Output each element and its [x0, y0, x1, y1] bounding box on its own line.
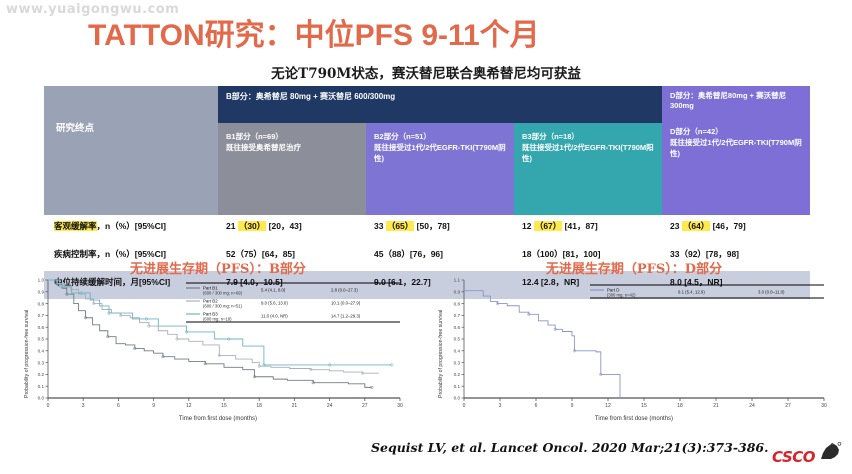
svg-text:0.6: 0.6	[454, 325, 461, 330]
chart-left-title: 无进展生存期（PFS）：B部分	[18, 258, 418, 277]
col-b1-desc: 既往接受奥希替尼治疗	[226, 143, 360, 154]
chart-left: 无进展生存期（PFS）：B部分 Probability of progressi…	[18, 258, 418, 428]
chart-left-plot: 1.00.90.80.70.60.50.40.30.20.10.00369121…	[18, 258, 418, 428]
svg-text:0.3: 0.3	[38, 360, 45, 365]
csco-horse-icon	[818, 442, 842, 462]
band-d-text: D部分：奥希替尼80mg + 赛沃替尼 300mg	[670, 91, 804, 111]
slide-root: www.yuaigongwu.com TATTON研究：中位PFS 9-11个月…	[0, 0, 852, 474]
table-row: 客观缓解率，n（%）[95%CI] 21 （30） [20，43] 33 （65…	[44, 215, 810, 243]
band-d-header: D部分：奥希替尼80mg + 赛沃替尼 300mg D部分（n=42） 既往接受…	[662, 86, 810, 215]
chart-right-plot: 1.10.90.80.70.60.50.40.30.20.10.00369121…	[432, 258, 836, 428]
svg-text:27: 27	[362, 403, 368, 409]
chart-left-xlabel: Time from first dose (months)	[18, 416, 418, 422]
svg-text:0.6: 0.6	[38, 325, 45, 330]
svg-text:3: 3	[82, 403, 85, 409]
chart-left-ylabel: Probability of progression-free survival	[24, 310, 30, 398]
svg-text:10.1 (0.0–27.9): 10.1 (0.0–27.9)	[331, 301, 361, 306]
svg-text:12: 12	[605, 403, 611, 409]
col-b1-header: B1部分（n=69） 既往接受奥希替尼治疗	[218, 123, 366, 215]
svg-text:0.0: 0.0	[38, 396, 45, 401]
row-label-orr-highlight: 客观缓解率	[54, 221, 97, 231]
subtitle: 无论T790M状态，赛沃替尼联合奥希替尼均可获益	[0, 62, 852, 82]
svg-text:(600 mg; n=18): (600 mg; n=18)	[203, 316, 232, 321]
svg-text:0: 0	[463, 403, 466, 409]
svg-text:18: 18	[256, 403, 262, 409]
svg-text:15: 15	[221, 403, 227, 409]
svg-text:9: 9	[571, 403, 574, 409]
svg-text:9.0 (5.6, 13.0): 9.0 (5.6, 13.0)	[261, 301, 288, 306]
svg-text:0.2: 0.2	[454, 372, 461, 377]
cell-orr-b1: 21 （30） [20，43]	[218, 215, 366, 243]
svg-text:21: 21	[292, 403, 298, 409]
svg-text:0.7: 0.7	[38, 313, 45, 318]
svg-text:30: 30	[821, 403, 827, 409]
chart-right-xlabel: Time from first dose (months)	[432, 416, 836, 422]
svg-text:15: 15	[641, 403, 647, 409]
chart-right: 无进展生存期（PFS）：D部分 Probability of progressi…	[432, 258, 836, 428]
svg-text:0.9: 0.9	[38, 290, 45, 295]
cell-orr-d: 23 （64） [46，79]	[662, 215, 810, 243]
col-b3-title: B3部分（n=18）	[522, 132, 656, 143]
svg-text:3: 3	[499, 403, 502, 409]
svg-text:0.1: 0.1	[38, 384, 45, 389]
chart-right-ylabel: Probability of progression-free survival	[438, 310, 444, 398]
svg-text:30: 30	[397, 403, 403, 409]
svg-text:0.5: 0.5	[38, 337, 45, 342]
svg-text:9: 9	[152, 403, 155, 409]
col-d-title: D部分（n=42）	[670, 127, 804, 138]
svg-text:0.2: 0.2	[38, 372, 45, 377]
svg-text:9.1 (5.4, 12.9): 9.1 (5.4, 12.9)	[678, 290, 705, 295]
svg-text:0.4: 0.4	[38, 349, 45, 354]
svg-text:0.1: 0.1	[454, 384, 461, 389]
svg-text:18: 18	[677, 403, 683, 409]
page-title: TATTON研究：中位PFS 9-11个月	[88, 10, 540, 54]
svg-text:2.8 (0.0–27.3): 2.8 (0.0–27.3)	[331, 288, 358, 293]
cell-orr-b3: 12 （67） [41，87]	[514, 215, 662, 243]
svg-text:0.0: 0.0	[454, 396, 461, 401]
svg-text:(600 / 300 mg; n=69): (600 / 300 mg; n=69)	[203, 290, 243, 295]
endpoint-header: 研究终点	[44, 86, 218, 215]
col-b2-header: B2部分（n=51） 既往接受过1代/2代EGFR-TKI(T790M阴性)	[366, 123, 514, 215]
svg-text:12: 12	[186, 403, 192, 409]
svg-text:5.4 (4.1, 8.0): 5.4 (4.1, 8.0)	[261, 288, 286, 293]
svg-text:0.9: 0.9	[454, 290, 461, 295]
row-label-orr-rest: ，n（%）[95%CI]	[97, 221, 166, 231]
svg-text:24: 24	[327, 403, 333, 409]
svg-text:6: 6	[535, 403, 538, 409]
svg-text:0.8: 0.8	[454, 301, 461, 306]
svg-text:(600 / 300 mg; n=51): (600 / 300 mg; n=51)	[203, 303, 243, 308]
svg-text:1.1: 1.1	[454, 278, 461, 283]
citation: Sequist LV, et al. Lancet Oncol. 2020 Ma…	[371, 440, 768, 455]
svg-text:27: 27	[785, 403, 791, 409]
csco-logo: CSCO	[770, 442, 844, 468]
svg-text:0.8: 0.8	[38, 301, 45, 306]
band-b-header: B部分：奥希替尼 80mg + 赛沃替尼 600/300mg	[218, 86, 662, 123]
svg-text:11.0 (4.0, NR): 11.0 (4.0, NR)	[261, 314, 288, 319]
svg-text:(300 mg; n=42): (300 mg; n=42)	[607, 292, 636, 297]
col-d-desc: 既往接受过1代/2代EGFR-TKI(T790M阴性)	[670, 138, 804, 160]
svg-text:21: 21	[713, 403, 719, 409]
csco-logo-text: CSCO	[772, 448, 815, 466]
col-b2-title: B2部分（n=51）	[374, 132, 508, 143]
row-label-orr: 客观缓解率，n（%）[95%CI]	[44, 215, 218, 243]
svg-text:0.5: 0.5	[454, 337, 461, 342]
col-b1-title: B1部分（n=69）	[226, 132, 360, 143]
table-band-row: 研究终点 B部分：奥希替尼 80mg + 赛沃替尼 600/300mg D部分：…	[44, 86, 810, 123]
svg-text:0.7: 0.7	[454, 313, 461, 318]
svg-text:6: 6	[117, 403, 120, 409]
svg-text:0.4: 0.4	[454, 349, 461, 354]
svg-text:24: 24	[749, 403, 755, 409]
svg-text:14.7 (1.2–29.3): 14.7 (1.2–29.3)	[331, 314, 361, 319]
col-b3-header: B3部分（n=18） 既往接受过1代/2代EGFR-TKI(T790M阳性)	[514, 123, 662, 215]
col-b2-desc: 既往接受过1代/2代EGFR-TKI(T790M阴性)	[374, 143, 508, 165]
svg-text:0.3: 0.3	[454, 360, 461, 365]
col-b3-desc: 既往接受过1代/2代EGFR-TKI(T790M阳性)	[522, 143, 656, 165]
svg-text:1.0: 1.0	[38, 278, 45, 283]
cell-orr-b2: 33 （65） [50，78]	[366, 215, 514, 243]
svg-text:0: 0	[47, 403, 50, 409]
chart-right-title: 无进展生存期（PFS）：D部分	[432, 258, 836, 277]
svg-text:3.0 (0.0–11.0): 3.0 (0.0–11.0)	[758, 290, 785, 295]
